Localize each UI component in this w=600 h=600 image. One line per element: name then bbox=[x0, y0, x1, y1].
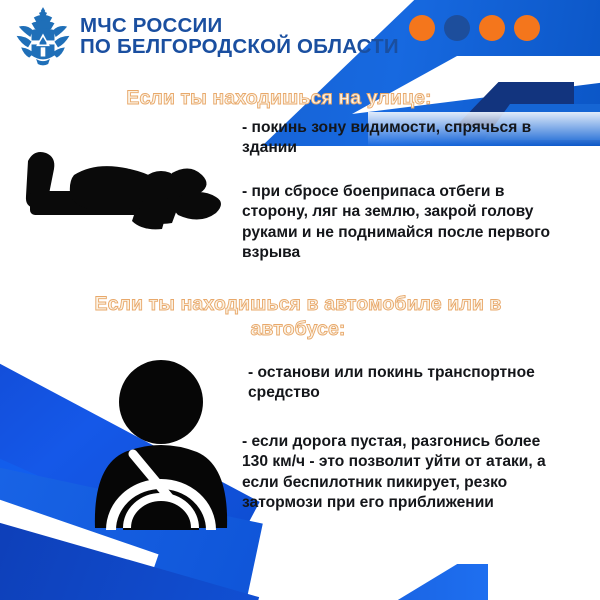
org-line-2: ПО БЕЛГОРОДСКОЙ ОБЛАСТИ bbox=[80, 37, 399, 58]
street-paragraph-2: - при сбросе боеприпаса отбеги в сторону… bbox=[242, 182, 552, 264]
header-dot-row bbox=[409, 15, 540, 41]
org-line-1: МЧС РОССИИ bbox=[80, 16, 399, 37]
section-heading-vehicle: Если ты находишься в автомобиле или в ав… bbox=[48, 292, 548, 342]
dot-orange-2 bbox=[479, 15, 505, 41]
emercom-eagle-emblem bbox=[14, 6, 72, 68]
driver-at-steering-wheel-icon bbox=[75, 358, 247, 550]
vehicle-paragraph-2: - если дорога пустая, разгонись более 13… bbox=[242, 432, 554, 514]
street-paragraph-1: - покинь зону видимости, спрячься в здан… bbox=[242, 118, 542, 159]
person-lying-down-icon bbox=[18, 135, 230, 235]
organization-name: МЧС РОССИИ ПО БЕЛГОРОДСКОЙ ОБЛАСТИ bbox=[80, 16, 399, 58]
poster-content: Если ты находишься на улице: - покинь зо… bbox=[0, 0, 600, 600]
infographic-poster: МЧС РОССИИ ПО БЕЛГОРОДСКОЙ ОБЛАСТИ Если … bbox=[0, 0, 600, 600]
poster-header: МЧС РОССИИ ПО БЕЛГОРОДСКОЙ ОБЛАСТИ bbox=[0, 0, 600, 74]
vehicle-paragraph-1: - останови или покинь транспортное средс… bbox=[248, 363, 548, 404]
dot-orange-1 bbox=[409, 15, 435, 41]
dot-orange-3 bbox=[514, 15, 540, 41]
dot-blue bbox=[444, 15, 470, 41]
section-heading-street: Если ты находишься на улице: bbox=[58, 86, 500, 111]
